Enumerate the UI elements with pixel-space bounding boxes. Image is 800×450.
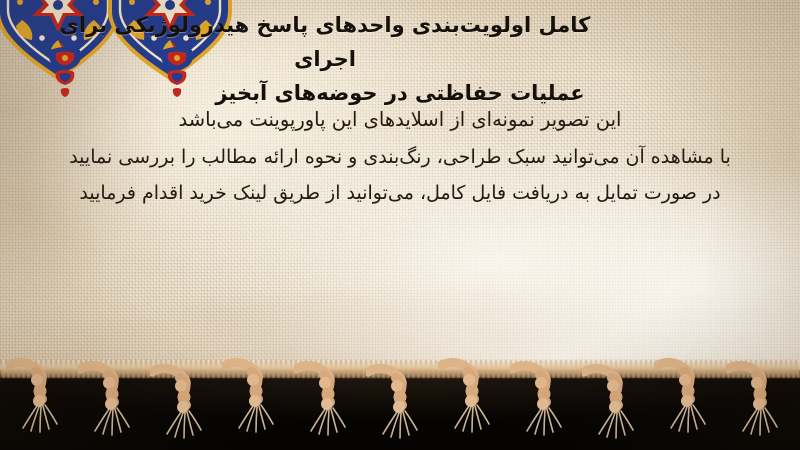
slide-title-line-1: کامل اولویت‌بندی واحدهای پاسخ هیدرولوژیک… — [40, 8, 760, 76]
body-line-2: با مشاهده آن می‌توانید سبک طراحی، رنگ‌بن… — [0, 142, 800, 173]
slide-body-text: این تصویر نمونه‌ای از اسلایدهای این پاور… — [0, 104, 800, 215]
slide-canvas: کامل اولویت‌بندی واحدهای پاسخ هیدرولوژیک… — [0, 0, 800, 450]
body-line-1: این تصویر نمونه‌ای از اسلایدهای این پاور… — [0, 104, 800, 136]
slide-title: کامل اولویت‌بندی واحدهای پاسخ هیدرولوژیک… — [40, 8, 760, 110]
carpet-selvedge-edge — [0, 360, 800, 378]
dark-ground — [0, 370, 800, 450]
body-line-3: در صورت تمایل به دریافت فایل کامل، می‌تو… — [0, 178, 800, 209]
